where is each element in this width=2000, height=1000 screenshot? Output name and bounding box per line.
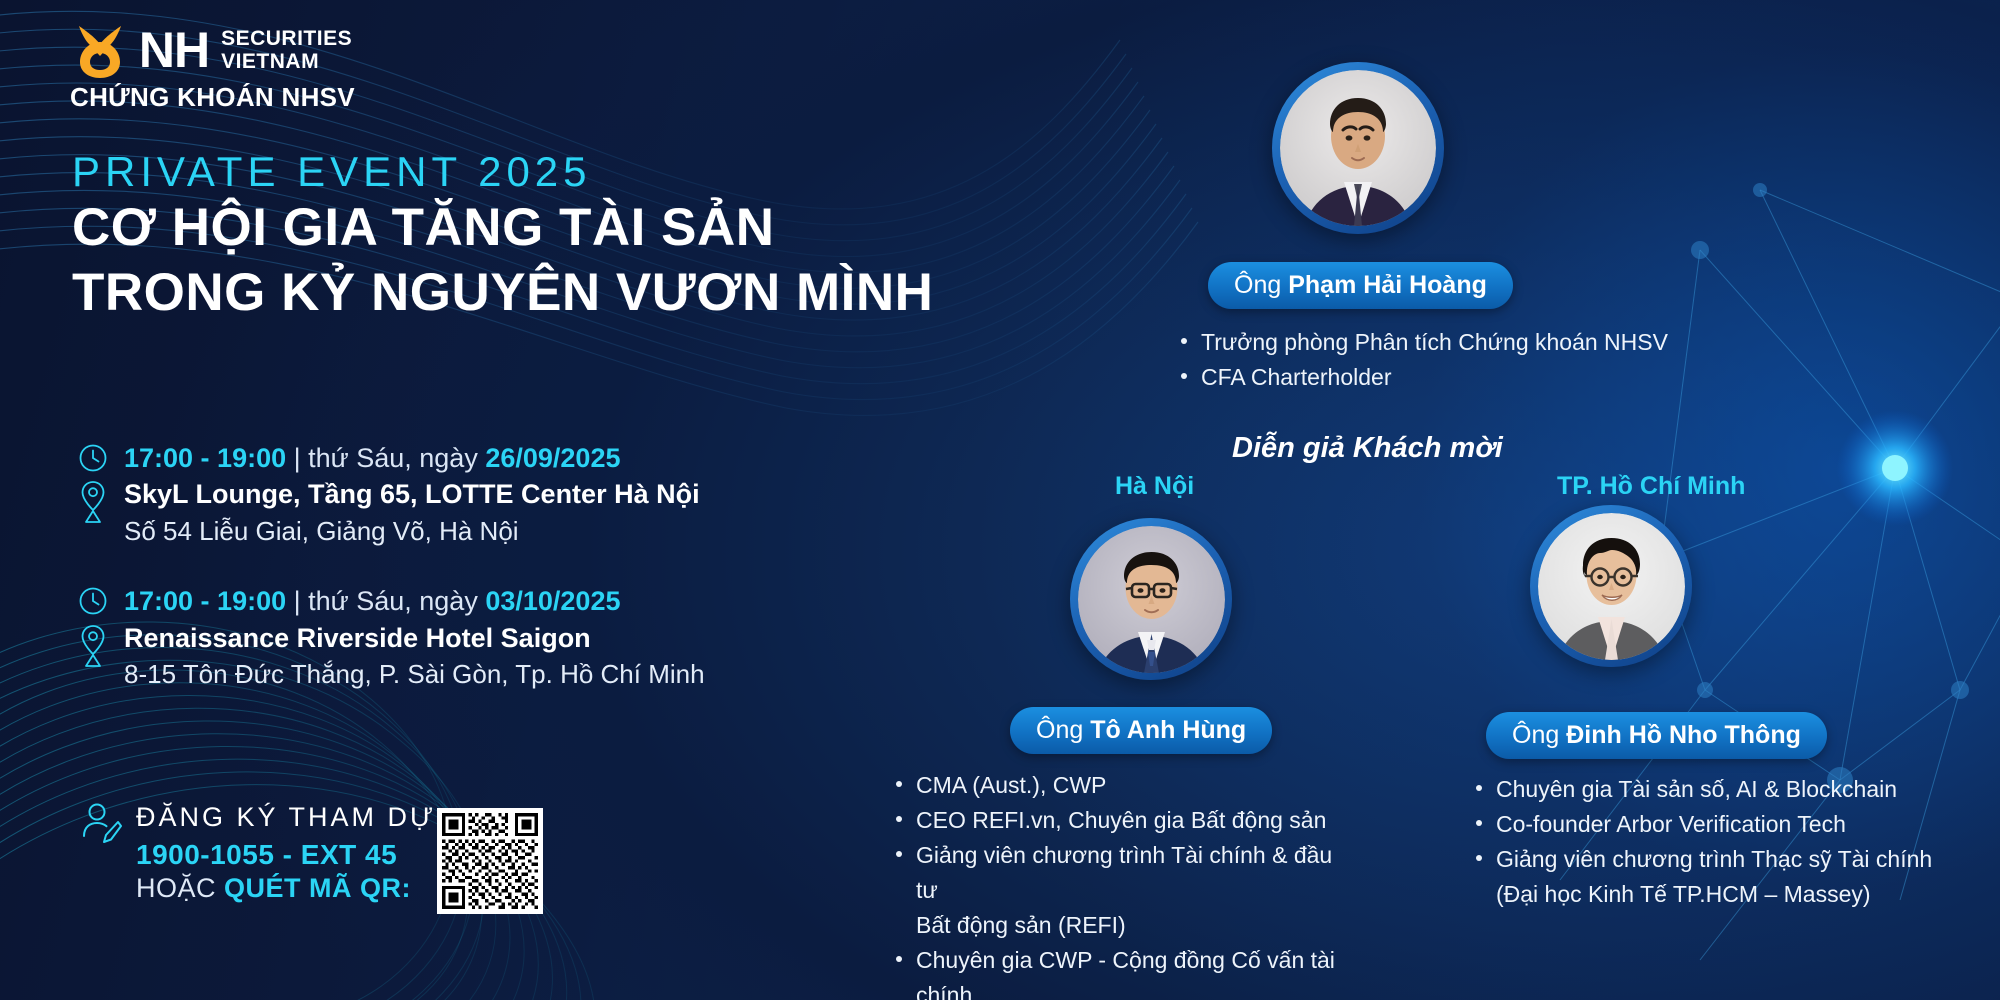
- registration-text: ĐĂNG KÝ THAM DỰ: 1900-1055 - EXT 45 HOẶC…: [136, 800, 447, 904]
- event-time-value: 17:00 - 19:00: [124, 586, 286, 616]
- clock-icon: [78, 586, 108, 616]
- event-block-saigon: 17:00 - 19:00 | thứ Sáu, ngày 03/10/2025…: [78, 583, 705, 692]
- speaker-credentials-2: CMA (Aust.), CWP CEO REFI.vn, Chuyên gia…: [890, 768, 1360, 1000]
- event-date-value: 03/10/2025: [485, 586, 620, 616]
- list-item: Co-founder Arbor Verification Tech: [1470, 807, 1940, 842]
- event-address: Số 54 Liễu Giai, Giảng Võ, Hà Nội: [124, 513, 700, 549]
- event-venue-name: Renaissance Riverside Hotel Saigon: [124, 620, 705, 656]
- speaker-name-badge-3: Ông Đinh Hồ Nho Thông: [1486, 712, 1827, 759]
- list-item-continuation: (Đại học Kinh Tế TP.HCM – Massey): [1470, 877, 1940, 912]
- event-details: 17:00 - 19:00 | thứ Sáu, ngày 26/09/2025…: [78, 440, 705, 727]
- event-venue-block: SkyL Lounge, Tầng 65, LOTTE Center Hà Nộ…: [124, 476, 700, 549]
- brand-logo: NH SECURITIES VIETNAM CHỨNG KHOÁN NHSV: [70, 22, 355, 113]
- list-item: Giảng viên chương trình Thạc sỹ Tài chín…: [1470, 842, 1940, 877]
- logo-nh-text: NH: [139, 25, 209, 75]
- event-time-text: 17:00 - 19:00 | thứ Sáu, ngày 26/09/2025: [124, 440, 620, 476]
- speaker-portrait-dinh-ho-nho-thong: [1530, 505, 1692, 667]
- speaker-credentials-3: Chuyên gia Tài sản số, AI & Blockchain C…: [1470, 772, 1940, 912]
- map-pin-icon: [78, 480, 108, 524]
- event-address: 8-15 Tôn Đức Thắng, P. Sài Gòn, Tp. Hồ C…: [124, 656, 705, 692]
- headline-group: PRIVATE EVENT 2025 CƠ HỘI GIA TĂNG TÀI S…: [72, 148, 933, 326]
- event-block-hanoi: 17:00 - 19:00 | thứ Sáu, ngày 26/09/2025…: [78, 440, 705, 549]
- list-item: Chuyên gia Tài sản số, AI & Blockchain: [1470, 772, 1940, 807]
- registration-qr-label: QUÉT MÃ QR:: [224, 873, 411, 903]
- speaker-credentials-1: Trưởng phòng Phân tích Chứng khoán NHSV …: [1175, 325, 1668, 395]
- registration-or-line: HOẶC QUÉT MÃ QR:: [136, 873, 447, 904]
- speaker-honorific: Ông: [1036, 716, 1083, 744]
- registration-heading: ĐĂNG KÝ THAM DỰ:: [136, 802, 447, 833]
- city-label-hanoi: Hà Nội: [1115, 472, 1194, 501]
- logo-tagline: CHỨNG KHOÁN NHSV: [70, 82, 355, 113]
- nh-bull-logo-icon: [73, 22, 127, 78]
- event-day-text: | thứ Sáu, ngày: [294, 586, 478, 616]
- guest-speakers-title: Diễn giả Khách mời: [1232, 432, 1503, 465]
- event-poster: NH SECURITIES VIETNAM CHỨNG KHOÁN NHSV P…: [0, 0, 2000, 1000]
- registration-or-prefix: HOẶC: [136, 873, 224, 903]
- qr-code-icon[interactable]: [437, 808, 543, 914]
- event-time-row: 17:00 - 19:00 | thứ Sáu, ngày 26/09/2025: [78, 440, 705, 476]
- event-venue-row: Renaissance Riverside Hotel Saigon 8-15 …: [78, 620, 705, 693]
- speaker-name: Tô Anh Hùng: [1090, 716, 1246, 744]
- event-venue-block: Renaissance Riverside Hotel Saigon 8-15 …: [124, 620, 705, 693]
- list-item: Trưởng phòng Phân tích Chứng khoán NHSV: [1175, 325, 1668, 360]
- speaker-honorific: Ông: [1512, 721, 1559, 749]
- speaker-name: Phạm Hải Hoàng: [1288, 271, 1487, 299]
- list-item: Giảng viên chương trình Tài chính & đầu …: [890, 838, 1360, 908]
- logo-securities: SECURITIES: [221, 28, 352, 51]
- map-pin-icon: [78, 624, 108, 668]
- event-day-text: | thứ Sáu, ngày: [294, 443, 478, 473]
- registration-block: ĐĂNG KÝ THAM DỰ: 1900-1055 - EXT 45 HOẶC…: [80, 800, 447, 904]
- list-item: CEO REFI.vn, Chuyên gia Bất động sản: [890, 803, 1360, 838]
- logo-subtitle: SECURITIES VIETNAM: [221, 26, 352, 73]
- clock-icon: [78, 443, 108, 473]
- user-signup-icon: [80, 802, 122, 846]
- speaker-portrait-to-anh-hung: [1070, 518, 1232, 680]
- logo-vietnam: VIETNAM: [221, 51, 352, 74]
- speaker-honorific: Ông: [1234, 271, 1281, 299]
- event-venue-name: SkyL Lounge, Tầng 65, LOTTE Center Hà Nộ…: [124, 476, 700, 512]
- list-item: CFA Charterholder: [1175, 360, 1668, 395]
- list-item: CMA (Aust.), CWP: [890, 768, 1360, 803]
- headline-line-1: CƠ HỘI GIA TĂNG TÀI SẢN: [72, 196, 933, 261]
- event-eyebrow: PRIVATE EVENT 2025: [72, 148, 933, 196]
- speaker-name-badge-2: Ông Tô Anh Hùng: [1010, 707, 1272, 754]
- speaker-portrait-pham-hai-hoang: [1272, 62, 1444, 234]
- registration-phone[interactable]: 1900-1055 - EXT 45: [136, 839, 447, 871]
- event-date-value: 26/09/2025: [485, 443, 620, 473]
- speaker-name: Đinh Hồ Nho Thông: [1566, 721, 1801, 749]
- event-venue-row: SkyL Lounge, Tầng 65, LOTTE Center Hà Nộ…: [78, 476, 705, 549]
- speaker-name-badge-1: Ông Phạm Hải Hoàng: [1208, 262, 1513, 309]
- headline-line-2: TRONG KỶ NGUYÊN VƯƠN MÌNH: [72, 261, 933, 326]
- city-label-hcmc: TP. Hồ Chí Minh: [1557, 472, 1745, 501]
- logo-row: NH SECURITIES VIETNAM: [73, 22, 352, 78]
- event-time-text: 17:00 - 19:00 | thứ Sáu, ngày 03/10/2025: [124, 583, 620, 619]
- event-time-row: 17:00 - 19:00 | thứ Sáu, ngày 03/10/2025: [78, 583, 705, 619]
- list-item-continuation: Bất động sản (REFI): [890, 908, 1360, 943]
- event-time-value: 17:00 - 19:00: [124, 443, 286, 473]
- list-item: Chuyên gia CWP - Cộng đồng Cố vấn tài ch…: [890, 943, 1360, 1000]
